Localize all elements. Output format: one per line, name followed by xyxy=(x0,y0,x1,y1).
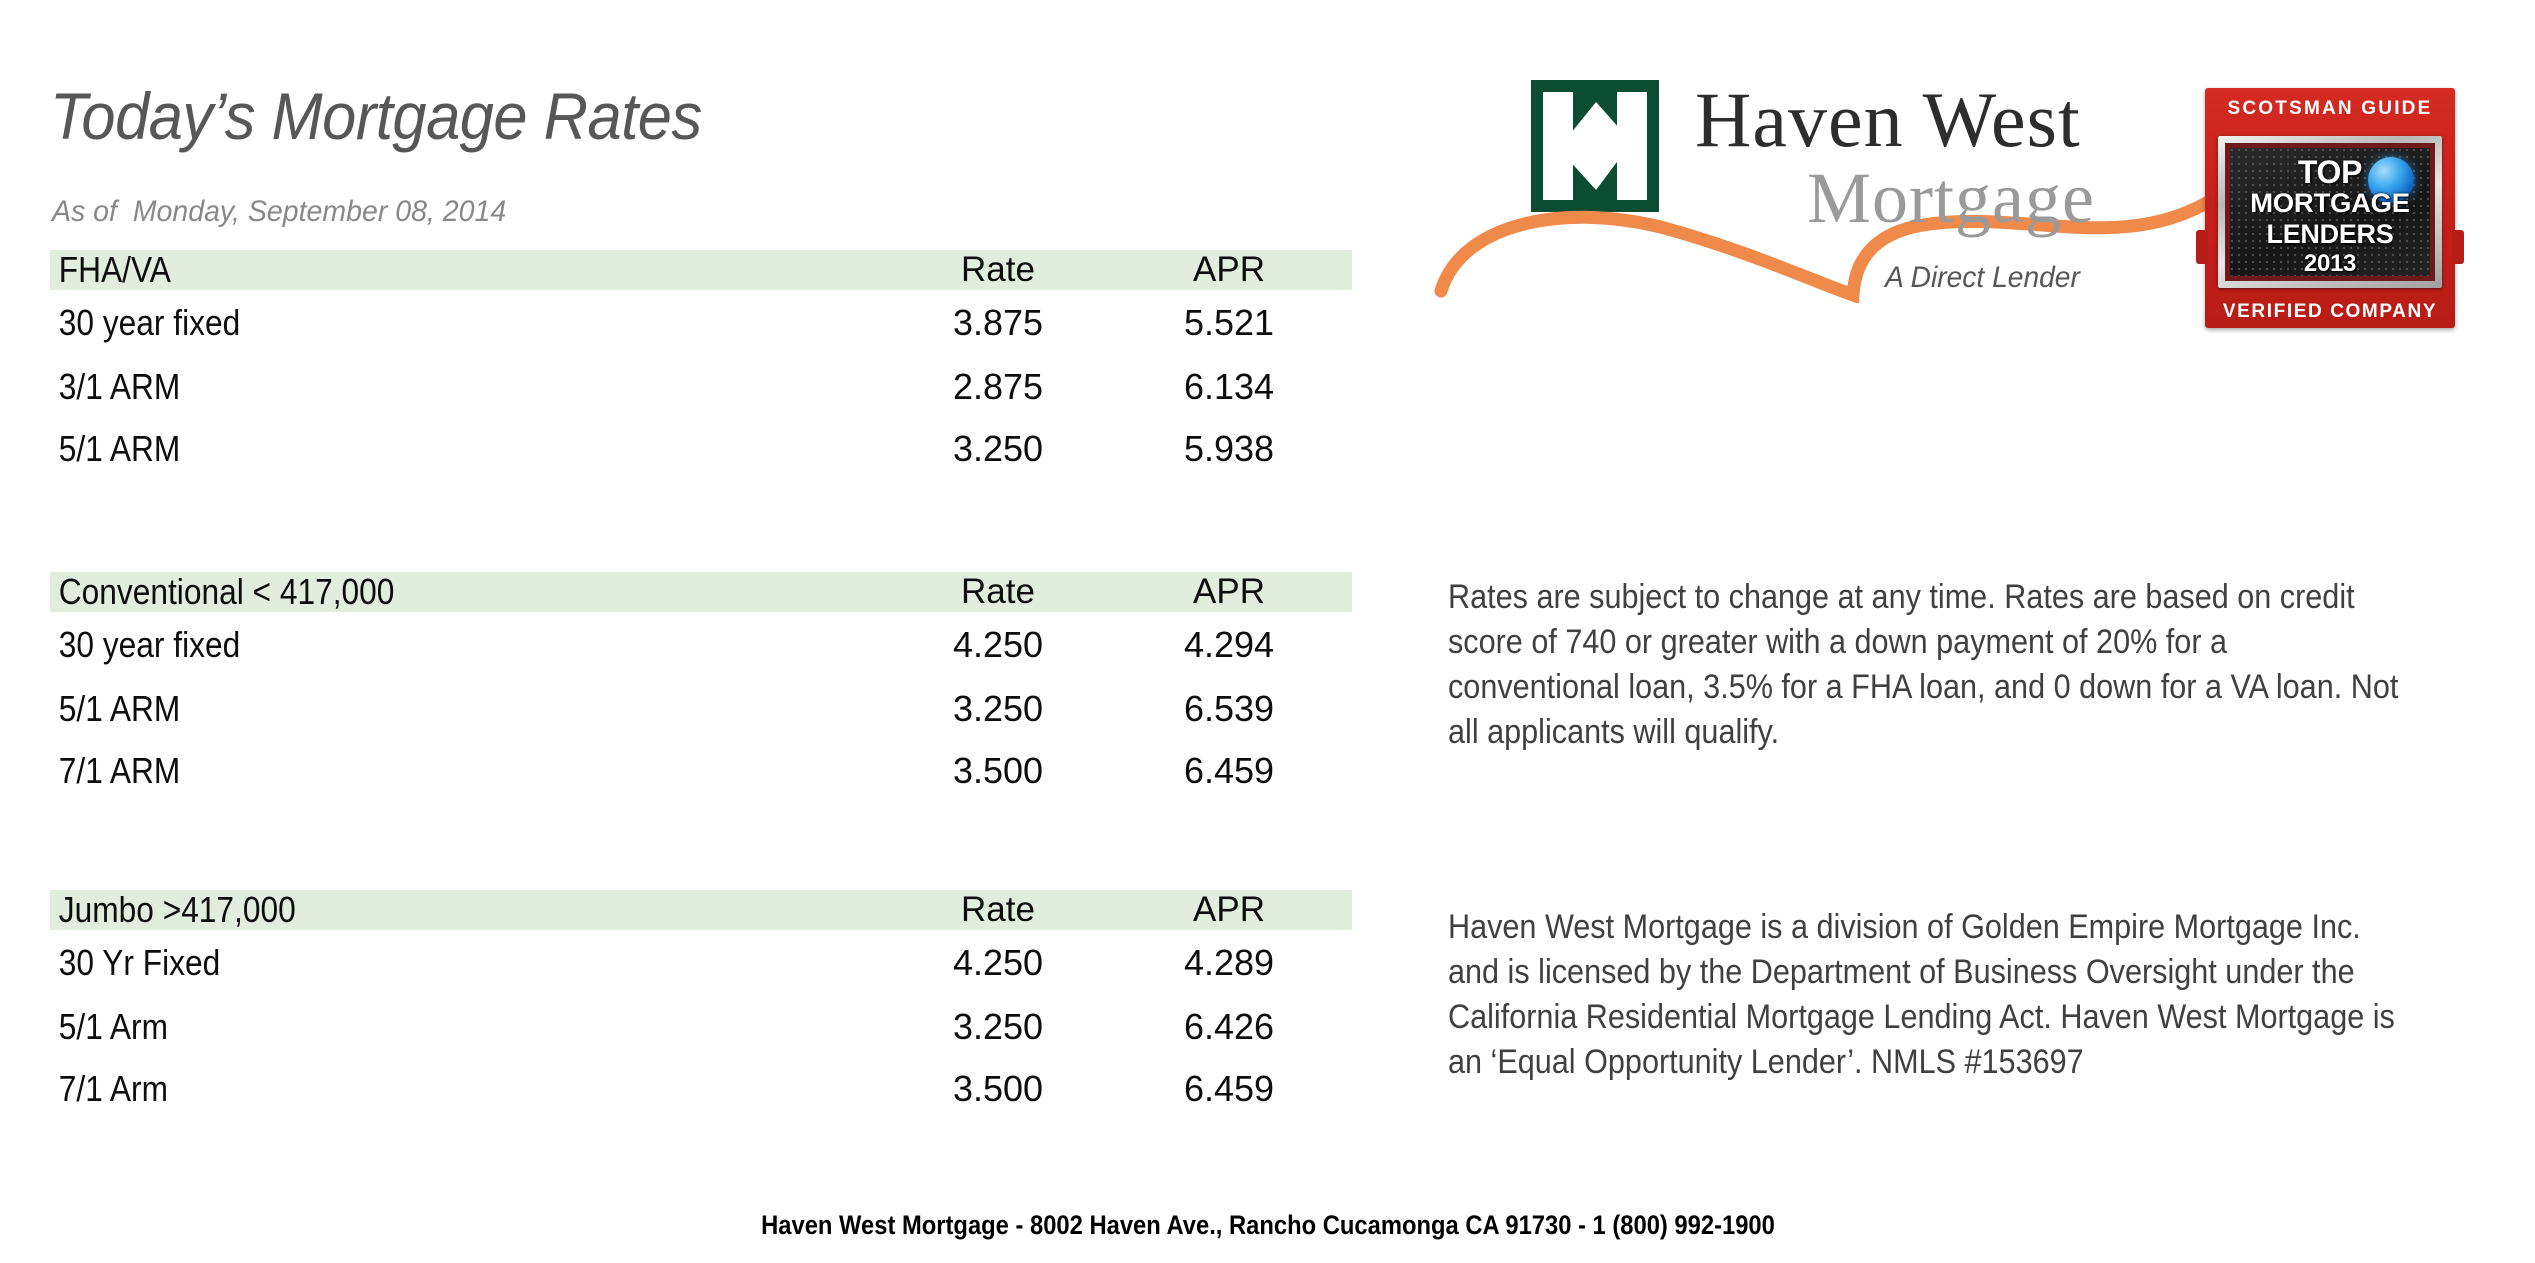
product-name: 5/1 ARM xyxy=(50,428,780,470)
badge-inner-frame: TOP MORTGAGE LENDERS 2013 xyxy=(2225,143,2435,281)
table-header-row: Conventional < 417,000 Rate APR xyxy=(50,572,1352,612)
product-rate: 2.875 xyxy=(880,366,1116,408)
product-rate: 3.875 xyxy=(880,302,1116,344)
product-name: 5/1 Arm xyxy=(50,1006,780,1048)
rate-table-fha-va: FHA/VA Rate APR 30 year fixed 3.875 5.52… xyxy=(50,250,1352,480)
table-row: 5/1 Arm 3.250 6.426 xyxy=(50,996,1352,1058)
badge-tab-left xyxy=(2196,230,2208,264)
licensing-disclaimer: Haven West Mortgage is a division of Gol… xyxy=(1448,905,2402,1085)
badge-year: 2013 xyxy=(2230,250,2430,276)
logo-name-secondary: Mortgage xyxy=(1807,157,2095,240)
table-category-label: FHA/VA xyxy=(50,249,780,291)
product-name: 7/1 ARM xyxy=(50,750,780,792)
rates-panel: Today’s Mortgage Rates As of Monday, Sep… xyxy=(0,0,1400,1160)
column-header-apr: APR xyxy=(1116,890,1342,930)
footer-contact-text: Haven West Mortgage - 8002 Haven Ave., R… xyxy=(761,1210,1775,1241)
footer-contact-line: Haven West Mortgage - 8002 Haven Ave., R… xyxy=(0,1210,2535,1241)
badge-bottom-label: VERIFIED COMPANY xyxy=(2205,301,2455,323)
product-rate: 3.250 xyxy=(880,688,1116,730)
product-rate: 3.500 xyxy=(880,1068,1116,1110)
table-header-row: Jumbo >417,000 Rate APR xyxy=(50,890,1352,930)
product-rate: 3.250 xyxy=(880,1006,1116,1048)
badge-text-stack: TOP MORTGAGE LENDERS 2013 xyxy=(2230,148,2430,276)
product-apr: 6.426 xyxy=(1116,1006,1342,1048)
column-header-apr: APR xyxy=(1116,250,1342,290)
badge-screen: TOP MORTGAGE LENDERS 2013 xyxy=(2230,148,2430,276)
column-header-rate: Rate xyxy=(880,572,1116,612)
haven-west-logo: Haven West Mortgage A Direct Lender xyxy=(1455,45,2175,335)
product-apr: 6.459 xyxy=(1116,750,1342,792)
product-rate: 4.250 xyxy=(880,624,1116,666)
rate-table-conventional: Conventional < 417,000 Rate APR 30 year … xyxy=(50,572,1352,802)
product-apr: 6.134 xyxy=(1116,366,1342,408)
badge-tab-right xyxy=(2452,230,2464,264)
product-apr: 4.289 xyxy=(1116,942,1342,984)
product-name: 30 year fixed xyxy=(50,624,780,666)
table-row: 7/1 Arm 3.500 6.459 xyxy=(50,1058,1352,1120)
table-row: 7/1 ARM 3.500 6.459 xyxy=(50,740,1352,802)
badge-metal-frame: TOP MORTGAGE LENDERS 2013 xyxy=(2218,136,2442,288)
product-name: 5/1 ARM xyxy=(50,688,780,730)
product-name: 3/1 ARM xyxy=(50,366,780,408)
product-apr: 5.521 xyxy=(1116,302,1342,344)
table-header-row: FHA/VA Rate APR xyxy=(50,250,1352,290)
table-row: 30 year fixed 4.250 4.294 xyxy=(50,612,1352,678)
table-row: 30 year fixed 3.875 5.521 xyxy=(50,290,1352,356)
as-of-date: As of Monday, September 08, 2014 xyxy=(52,195,506,229)
product-rate: 4.250 xyxy=(880,942,1116,984)
badge-word-lenders: LENDERS xyxy=(2230,219,2430,250)
product-name: 30 Yr Fixed xyxy=(50,942,780,984)
table-row: 5/1 ARM 3.250 5.938 xyxy=(50,418,1352,480)
table-row: 30 Yr Fixed 4.250 4.289 xyxy=(50,930,1352,996)
table-category-label: Conventional < 417,000 xyxy=(50,571,780,613)
product-name: 30 year fixed xyxy=(50,302,780,344)
page-title: Today’s Mortgage Rates xyxy=(50,78,702,154)
table-category-label: Jumbo >417,000 xyxy=(50,889,780,931)
product-apr: 6.539 xyxy=(1116,688,1342,730)
logo-tagline: A Direct Lender xyxy=(1885,261,2080,295)
product-name: 7/1 Arm xyxy=(50,1068,780,1110)
badge-word-top: TOP xyxy=(2230,154,2430,191)
logo-name-primary: Haven West xyxy=(1695,75,2081,165)
product-apr: 6.459 xyxy=(1116,1068,1342,1110)
product-apr: 4.294 xyxy=(1116,624,1342,666)
badge-top-label: SCOTSMAN GUIDE xyxy=(2205,98,2455,120)
branding-panel: Haven West Mortgage A Direct Lender SCOT… xyxy=(1400,0,2535,1160)
table-row: 3/1 ARM 2.875 6.134 xyxy=(50,356,1352,418)
rates-disclaimer: Rates are subject to change at any time.… xyxy=(1448,575,2402,755)
product-rate: 3.250 xyxy=(880,428,1116,470)
scotsman-guide-badge: SCOTSMAN GUIDE TOP MORTGAGE LENDERS 2013… xyxy=(2205,43,2455,331)
product-apr: 5.938 xyxy=(1116,428,1342,470)
column-header-apr: APR xyxy=(1116,572,1342,612)
table-row: 5/1 ARM 3.250 6.539 xyxy=(50,678,1352,740)
product-rate: 3.500 xyxy=(880,750,1116,792)
badge-word-mortgage: MORTGAGE xyxy=(2230,188,2430,219)
column-header-rate: Rate xyxy=(880,890,1116,930)
rate-table-jumbo: Jumbo >417,000 Rate APR 30 Yr Fixed 4.25… xyxy=(50,890,1352,1120)
column-header-rate: Rate xyxy=(880,250,1116,290)
